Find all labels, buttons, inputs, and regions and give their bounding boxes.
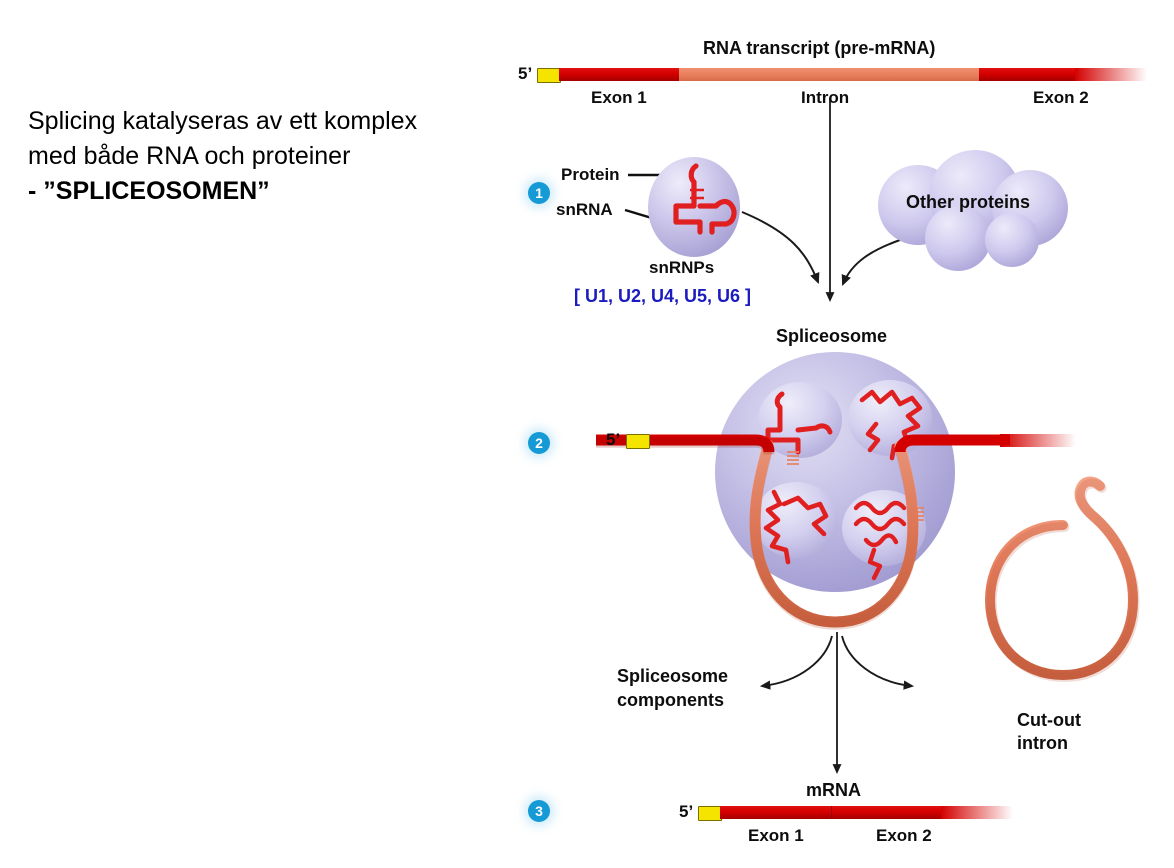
spliceosome-components-label-line2: components [617,690,724,711]
premrna-exon2-label: Exon 2 [1033,88,1089,108]
snrna-label: snRNA [556,200,613,220]
arrow-release-right [842,636,912,686]
premrna-intron-bar [679,68,979,81]
mrna-exon2-label: Exon 2 [876,826,932,846]
premrna-title: RNA transcript (pre-mRNA) [703,38,935,59]
spliceosome-complex [715,352,955,624]
snrnps-label: snRNPs [649,258,714,278]
premrna-exon2-fade [1075,68,1147,81]
step-badge-1: 1 [528,182,550,204]
protein-label: Protein [561,165,620,185]
premrna-exon1-bar [559,68,679,81]
other-proteins-label: Other proteins [906,192,1030,213]
mrna-exon2-fade [941,806,1013,819]
arrow-release-left [762,636,832,686]
mrna-5prime-cap [698,806,722,821]
mrna-exon1-label: Exon 1 [748,826,804,846]
step2-exon2-fade [1000,434,1076,447]
premrna-intron-label: Intron [801,88,849,108]
snrnp-particle [648,157,740,257]
cut-out-intron-label-line1: Cut-out [1017,710,1081,731]
cut-out-intron-label-line2: intron [1017,733,1068,754]
premrna-exon1-label: Exon 1 [591,88,647,108]
mrna-5prime-label: 5’ [679,802,693,822]
spliceosome-components-label-line1: Spliceosome [617,666,728,687]
premrna-5prime-cap [537,68,561,83]
step-badge-2: 2 [528,432,550,454]
cut-out-intron-lariat [990,482,1135,678]
step2-5prime-cap [626,434,650,449]
premrna-5prime-label: 5’ [518,64,532,84]
spliceosome-label: Spliceosome [776,326,887,347]
snrnp-components-label: [ U1, U2, U4, U5, U6 ] [574,286,751,307]
mrna-exon-junction [831,806,832,819]
spliceosome-5prime-label: 5’ [606,430,620,450]
diagram-vector-layer [0,0,1174,868]
step-badge-3: 3 [528,800,550,822]
mrna-exon2-bar [831,806,941,819]
mrna-exon1-bar [720,806,831,819]
premrna-exon2-bar [979,68,1075,81]
arrow-snrnps-to-spliceosome [742,212,818,282]
mrna-title: mRNA [806,780,861,801]
arrow-otherproteins-to-spliceosome [843,240,900,284]
slide-canvas: Splicing katalyseras av ett komplex med … [0,0,1174,868]
